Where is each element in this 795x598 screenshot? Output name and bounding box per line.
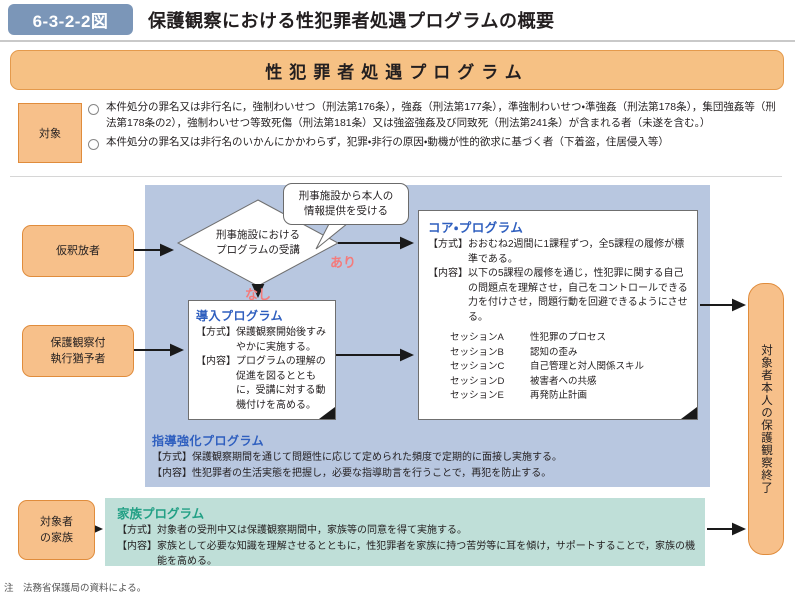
session-name: セッションE <box>450 389 530 404</box>
reinforcement-program-method: 【方式】 保護観察期間を通じて問題性に応じて定められた頻度で定期的に面接し実施す… <box>152 450 704 466</box>
decision-yes-label: あり <box>330 252 356 271</box>
circle-bullet-icon <box>88 104 99 115</box>
entry-box-probation: 保護観察付 執行猶予者 <box>22 325 134 377</box>
reinforcement-program-title: 指導強化プログラム <box>152 432 704 449</box>
family-program-method: 【方式】 対象者の受刑中又は保護観察期間中，家族等の同意を得て実施する。 <box>117 523 695 539</box>
session-row: セッションE 再発防止計画 <box>450 389 688 404</box>
intro-program-method: 【方式】 保護観察開始後すみやかに実施する。 <box>196 326 328 355</box>
decision-label-line2: プログラムの受講 <box>216 243 300 258</box>
target-list: 本件処分の罪名又は非行名に，強制わいせつ（刑法第176条），強姦（刑法第177条… <box>88 100 778 155</box>
supervision-end-box: 対象者本人の保護観察終了 <box>748 283 784 555</box>
intro-program-title: 導入プログラム <box>196 307 328 324</box>
intro-program-content: 【内容】 プログラムの理解の促進を図るとともに，受講に対する動機付けを高める。 <box>196 355 328 413</box>
program-banner: 性犯罪者処遇プログラム <box>10 50 784 90</box>
reinforcement-program-block: 指導強化プログラム 【方式】 保護観察期間を通じて問題性に応じて定められた頻度で… <box>152 432 704 482</box>
family-program-method-value: 対象者の受刑中又は保護観察期間中，家族等の同意を得て実施する。 <box>157 523 695 539</box>
core-program-box: コア・プログラム 【方式】 おおむね2週間に1課程ずつ，全5課程の履修が標準であ… <box>418 210 698 420</box>
session-list: セッションA 性犯罪のプロセス セッションB 認知の歪み セッションC 自己管理… <box>450 331 688 404</box>
session-row: セッションA 性犯罪のプロセス <box>450 331 688 346</box>
session-topic: 自己管理と対人関係スキル <box>530 360 688 375</box>
intro-program-method-value: 保護観察開始後すみやかに実施する。 <box>236 326 328 355</box>
target-item-text: 本件処分の罪名又は非行名に，強制わいせつ（刑法第176条），強姦（刑法第177条… <box>106 100 778 131</box>
intro-program-content-value: プログラムの理解の促進を図るとともに，受講に対する動機付けを高める。 <box>236 355 328 413</box>
reinforcement-program-method-value: 保護観察期間を通じて問題性に応じて定められた頻度で定期的に面接し実施する。 <box>192 450 704 466</box>
core-program-method-key: 【方式】 <box>428 238 468 253</box>
family-program-method-key: 【方式】 <box>117 523 157 539</box>
session-name: セッションA <box>450 331 530 346</box>
core-program-method-value: おおむね2週間に1課程ずつ，全5課程の履修が標準である。 <box>468 238 688 267</box>
callout-line2: 情報提供を受ける <box>304 204 388 219</box>
entry-box-parole: 仮釈放者 <box>22 225 134 277</box>
session-row: セッションC 自己管理と対人関係スキル <box>450 360 688 375</box>
target-list-item: 本件処分の罪名又は非行名のいかんにかかわらず，犯罪・非行の原因・動機が性的欲求に… <box>88 135 778 151</box>
session-topic: 被害者への共感 <box>530 375 688 390</box>
core-program-content: 【内容】 以下の5課程の履修を通じ，性犯罪に関する自己の問題点を理解させ，自己を… <box>428 267 688 325</box>
entry-box-parole-label: 仮釈放者 <box>56 243 100 259</box>
page-fold-corner-icon <box>681 407 697 419</box>
intro-program-box: 導入プログラム 【方式】 保護観察開始後すみやかに実施する。 【内容】 プログラ… <box>188 300 336 420</box>
entry-box-family-label-line1: 対象者 <box>40 514 73 530</box>
session-name: セッションC <box>450 360 530 375</box>
family-program-content-value: 家族として必要な知識を理解させるとともに，性犯罪者を家族に持つ苦労等に耳を傾け，… <box>157 539 695 570</box>
session-name: セッションD <box>450 375 530 390</box>
decision-label-line1: 刑事施設における <box>216 228 300 243</box>
session-row: セッションB 認知の歪み <box>450 346 688 361</box>
intro-program-content-key: 【内容】 <box>196 355 236 370</box>
session-name: セッションB <box>450 346 530 361</box>
family-program-panel: 家族プログラム 【方式】 対象者の受刑中又は保護観察期間中，家族等の同意を得て実… <box>105 498 705 566</box>
target-item-text: 本件処分の罪名又は非行名のいかんにかかわらず，犯罪・非行の原因・動機が性的欲求に… <box>106 135 669 151</box>
callout-bubble: 刑事施設から本人の 情報提供を受ける <box>283 183 409 225</box>
source-footnote: 注 法務省保護局の資料による。 <box>4 580 146 594</box>
family-program-title: 家族プログラム <box>117 503 695 522</box>
core-program-method: 【方式】 おおむね2週間に1課程ずつ，全5課程の履修が標準である。 <box>428 238 688 267</box>
reinforcement-program-content: 【内容】 性犯罪者の生活実態を把握し，必要な指導助言を行うことで，再犯を防止する… <box>152 466 704 482</box>
circle-bullet-icon <box>88 139 99 150</box>
entry-box-family-label-line2: の家族 <box>40 530 73 546</box>
figure-root: 6-3-2-2図 保護観察における性犯罪者処遇プログラムの概要 性犯罪者処遇プロ… <box>0 0 795 598</box>
intro-program-method-key: 【方式】 <box>196 326 236 341</box>
entry-box-probation-label-line1: 保護観察付 <box>51 335 106 351</box>
callout-line1: 刑事施設から本人の <box>299 189 394 204</box>
header-divider <box>0 40 795 42</box>
reinforcement-program-content-value: 性犯罪者の生活実態を把握し，必要な指導助言を行うことで，再犯を防止する。 <box>192 466 704 482</box>
entry-box-family: 対象者 の家族 <box>18 500 95 560</box>
target-label: 対象 <box>18 103 82 163</box>
section-divider <box>10 176 782 177</box>
core-program-content-value: 以下の5課程の履修を通じ，性犯罪に関する自己の問題点を理解させ，自己をコントロー… <box>468 267 688 325</box>
program-banner-label: 性犯罪者処遇プログラム <box>265 58 529 83</box>
session-topic: 再発防止計画 <box>530 389 688 404</box>
core-program-title: コア・プログラム <box>428 217 688 236</box>
family-program-content: 【内容】 家族として必要な知識を理解させるとともに，性犯罪者を家族に持つ苦労等に… <box>117 539 695 570</box>
figure-header: 6-3-2-2図 保護観察における性犯罪者処遇プログラムの概要 <box>0 2 795 38</box>
session-topic: 認知の歪み <box>530 346 688 361</box>
page-title: 保護観察における性犯罪者処遇プログラムの概要 <box>148 4 554 35</box>
page-fold-corner-icon <box>319 407 335 419</box>
target-list-item: 本件処分の罪名又は非行名に，強制わいせつ（刑法第176条），強姦（刑法第177条… <box>88 100 778 131</box>
family-program-content-key: 【内容】 <box>117 539 157 555</box>
core-program-content-key: 【内容】 <box>428 267 468 282</box>
session-topic: 性犯罪のプロセス <box>530 331 688 346</box>
reinforcement-program-method-key: 【方式】 <box>152 450 192 466</box>
reinforcement-program-content-key: 【内容】 <box>152 466 192 482</box>
supervision-end-label: 対象者本人の保護観察終了 <box>749 284 783 554</box>
figure-number-tag: 6-3-2-2図 <box>8 4 133 35</box>
session-row: セッションD 被害者への共感 <box>450 375 688 390</box>
entry-box-probation-label-line2: 執行猶予者 <box>51 351 106 367</box>
